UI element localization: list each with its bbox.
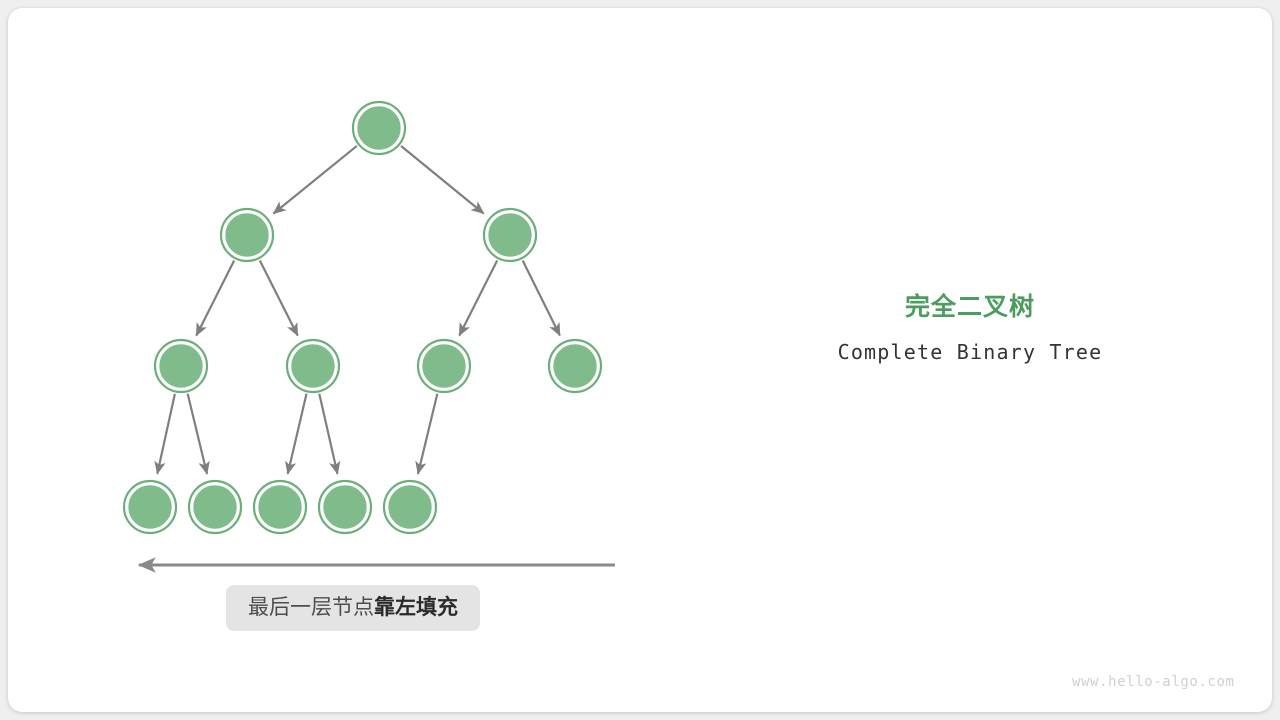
legend-subtitle: Complete Binary Tree <box>760 340 1180 364</box>
node-disc <box>128 485 173 530</box>
tree-node <box>353 102 405 154</box>
tree-edge <box>196 260 234 335</box>
node-disc <box>323 485 368 530</box>
tree-node <box>384 481 436 533</box>
tree-edge <box>401 146 484 213</box>
tree-node <box>155 340 207 392</box>
tree-node <box>549 340 601 392</box>
tree-node <box>189 481 241 533</box>
node-disc <box>159 344 204 389</box>
node-disc <box>193 485 238 530</box>
legend-title: 完全二叉树 <box>760 290 1180 324</box>
node-disc <box>488 213 533 258</box>
tree-edge <box>188 394 207 474</box>
tree-edge <box>288 394 307 474</box>
node-disc <box>291 344 336 389</box>
tree-node <box>418 340 470 392</box>
legend-block: 完全二叉树 Complete Binary Tree <box>760 290 1180 364</box>
node-disc <box>422 344 467 389</box>
node-disc <box>258 485 303 530</box>
caption-badge: 最后一层节点靠左填充 <box>226 585 480 631</box>
caption-text-strong: 靠左填充 <box>374 596 458 619</box>
tree-edge <box>319 394 337 474</box>
tree-node-layer <box>124 102 601 533</box>
node-disc <box>388 485 433 530</box>
tree-node <box>254 481 306 533</box>
tree-node <box>221 209 273 261</box>
tree-edge <box>157 394 175 474</box>
tree-edge <box>260 260 298 335</box>
tree-edge <box>418 394 437 474</box>
tree-node <box>319 481 371 533</box>
watermark: www.hello-algo.com <box>1072 674 1235 690</box>
tree-edge-layer <box>157 146 560 474</box>
tree-edge <box>523 261 560 336</box>
tree-node <box>287 340 339 392</box>
node-disc <box>225 213 270 258</box>
caption-text-normal: 最后一层节点 <box>248 596 374 619</box>
node-disc <box>553 344 598 389</box>
node-disc <box>357 106 402 151</box>
tree-edge <box>459 260 497 335</box>
tree-edge <box>273 146 356 214</box>
tree-node <box>124 481 176 533</box>
tree-node <box>484 209 536 261</box>
diagram-canvas: 完全二叉树 Complete Binary Tree 最后一层节点靠左填充 ww… <box>0 0 1280 720</box>
